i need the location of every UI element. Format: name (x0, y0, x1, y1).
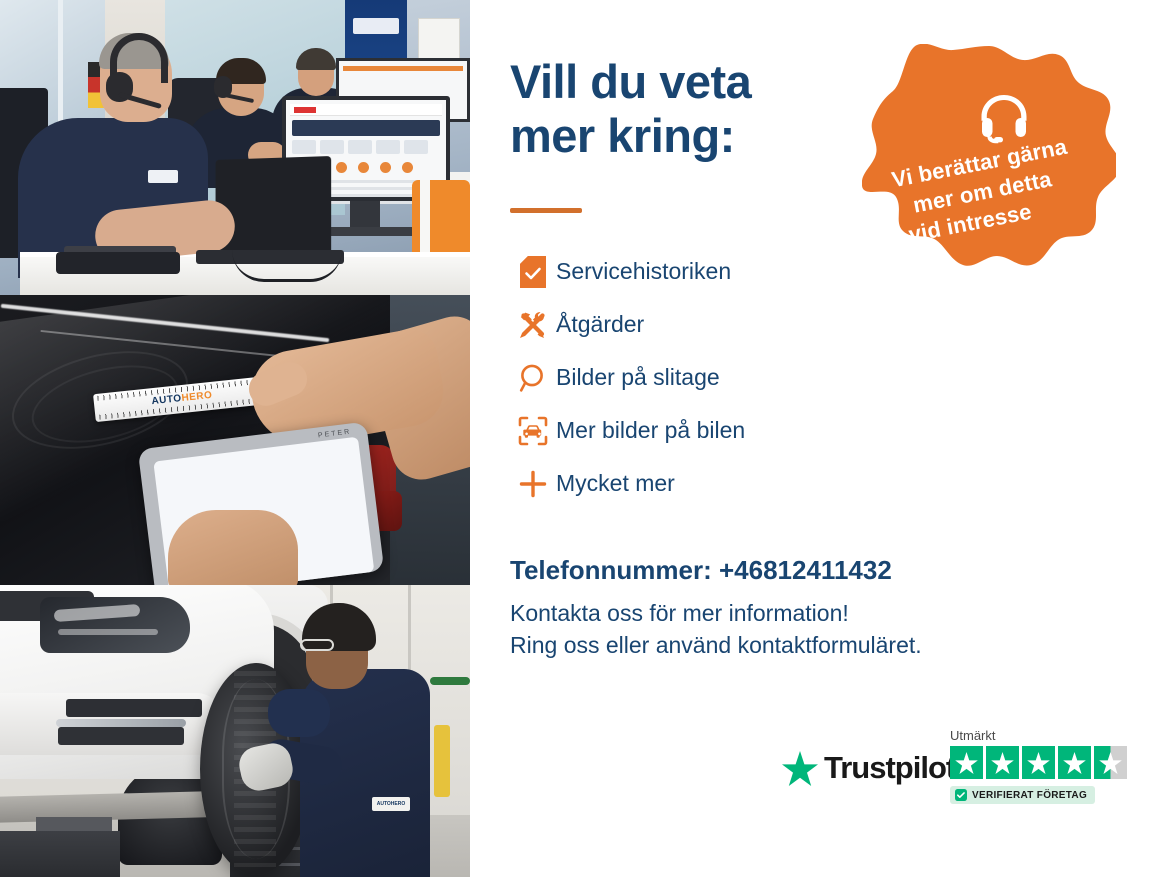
feature-label: Servicehistoriken (556, 258, 731, 285)
green-hose (430, 677, 470, 685)
plus-icon (510, 469, 556, 499)
tool-cabinet (0, 831, 120, 877)
mechanic-shirt-logo: AUTOHERO (372, 797, 410, 811)
page-title: Vill du veta mer kring: (510, 55, 910, 163)
verified-label: VERIFIERAT FÖRETAG (972, 790, 1087, 801)
feature-item-mycket-mer: Mycket mer (510, 457, 930, 510)
promo-page: AUTOHERO PETER (0, 0, 1170, 877)
feature-list: Servicehistoriken Åtgärder (510, 245, 930, 510)
content-panel: Vill du veta mer kring: Vi berättar gärn… (470, 0, 1170, 877)
star-icon (782, 751, 818, 786)
feature-label: Mycket mer (556, 470, 675, 497)
contact-line-1: Kontakta oss för mer information! (510, 598, 1070, 630)
vehicle-inspection-ruler-photo: AUTOHERO PETER (0, 295, 470, 585)
feature-label: Mer bilder på bilen (556, 417, 745, 444)
call-center-agents-photo (0, 0, 470, 295)
chrome-trim (56, 719, 186, 727)
yellow-post (434, 725, 450, 797)
feature-label: Bilder på slitage (556, 364, 720, 391)
star-icon-half (1094, 746, 1127, 779)
page-title-line-2: mer kring: (510, 109, 735, 162)
feature-item-servicehistoriken: Servicehistoriken (510, 245, 930, 298)
tablet-case (56, 252, 180, 274)
feature-label: Åtgärder (556, 311, 644, 338)
headset-icon (974, 92, 1034, 144)
bumper-vent (66, 699, 202, 717)
trustpilot-logo: Trustpilot (782, 750, 955, 786)
feature-item-mer-bilder-pa-bilen: Mer bilder på bilen (510, 404, 930, 457)
car-headlight (40, 597, 190, 653)
contact-line-2: Ring oss eller använd kontaktformuläret. (510, 630, 1070, 662)
telephone-number[interactable]: Telefonnummer: +46812411432 (510, 555, 1070, 586)
page-title-line-1: Vill du veta (510, 55, 751, 108)
rating-stars (950, 746, 1127, 779)
magnifier-icon (510, 363, 556, 393)
laptop-screen (216, 156, 332, 256)
star-icon (986, 746, 1019, 779)
title-divider (510, 208, 582, 213)
star-icon (950, 746, 983, 779)
trustpilot-widget[interactable]: Trustpilot Utmärkt VERIFIERAT FÖRETAG (782, 728, 1142, 823)
check-badge-icon (955, 789, 967, 801)
workshop-tire-mechanic-photo: AUTOHERO (0, 585, 470, 877)
trustpilot-rating-block: Utmärkt VERIFIERAT FÖRETAG (950, 728, 1127, 806)
feature-item-bilder-pa-slitage: Bilder på slitage (510, 351, 930, 404)
document-check-icon (510, 256, 556, 288)
inspector-hand-holding-tablet (168, 510, 298, 585)
trustpilot-wordmark: Trustpilot (824, 750, 955, 786)
monitor-stand (350, 201, 380, 227)
rating-label: Utmärkt (950, 728, 1127, 743)
feature-item-atgarder: Åtgärder (510, 298, 930, 351)
cable (232, 250, 342, 282)
photo-column: AUTOHERO PETER (0, 0, 470, 877)
agent-one-name-badge (148, 170, 178, 183)
monitor-base (320, 227, 416, 236)
mechanic-glasses (300, 639, 334, 651)
tools-wrench-icon (510, 310, 556, 340)
car-scan-icon (510, 416, 556, 446)
mechanic-upper-arm (268, 689, 330, 737)
star-icon (1022, 746, 1055, 779)
bumper-vent-lower (58, 727, 184, 745)
star-icon (1058, 746, 1091, 779)
contact-block: Telefonnummer: +46812411432 Kontakta oss… (510, 555, 1070, 661)
verified-business-badge: VERIFIERAT FÖRETAG (950, 786, 1095, 804)
